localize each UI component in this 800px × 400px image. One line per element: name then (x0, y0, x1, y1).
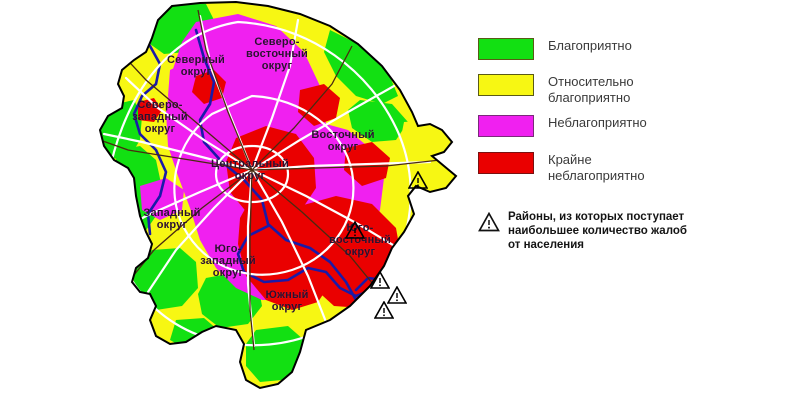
complaint-marker-icon (345, 221, 365, 239)
legend-item-relatively-favorable: Относительно благоприятно (478, 74, 634, 106)
legend-note-text: Районы, из которых поступает наибольшее … (508, 210, 687, 252)
legend-label-favorable: Благоприятно (548, 38, 632, 54)
legend-item-favorable: Благоприятно (478, 38, 632, 60)
complaint-marker-icon (408, 171, 428, 189)
legend-swatch-unfavorable (478, 115, 534, 137)
legend-swatch-extremely-unfavorable (478, 152, 534, 174)
map-canvas (0, 0, 470, 400)
legend-item-extremely-unfavorable: Крайне неблагоприятно (478, 152, 645, 184)
legend-label-unfavorable: Неблагоприятно (548, 115, 647, 131)
legend-note-complaints: Районы, из которых поступает наибольшее … (478, 210, 687, 252)
warning-triangle-icon (478, 212, 500, 232)
legend: Благоприятно Относительно благоприятно Н… (470, 0, 800, 400)
ecology-map-figure: Северный округ Северо- восточный округ С… (0, 0, 800, 400)
map-zones (0, 0, 470, 400)
legend-swatch-favorable (478, 38, 534, 60)
legend-item-unfavorable: Неблагоприятно (478, 115, 647, 137)
legend-label-extremely-unfavorable: Крайне неблагоприятно (548, 152, 645, 184)
moscow-map: Северный округ Северо- восточный округ С… (0, 0, 470, 400)
legend-swatch-relatively-favorable (478, 74, 534, 96)
complaint-marker-icon (374, 301, 394, 319)
legend-label-relatively-favorable: Относительно благоприятно (548, 74, 634, 106)
